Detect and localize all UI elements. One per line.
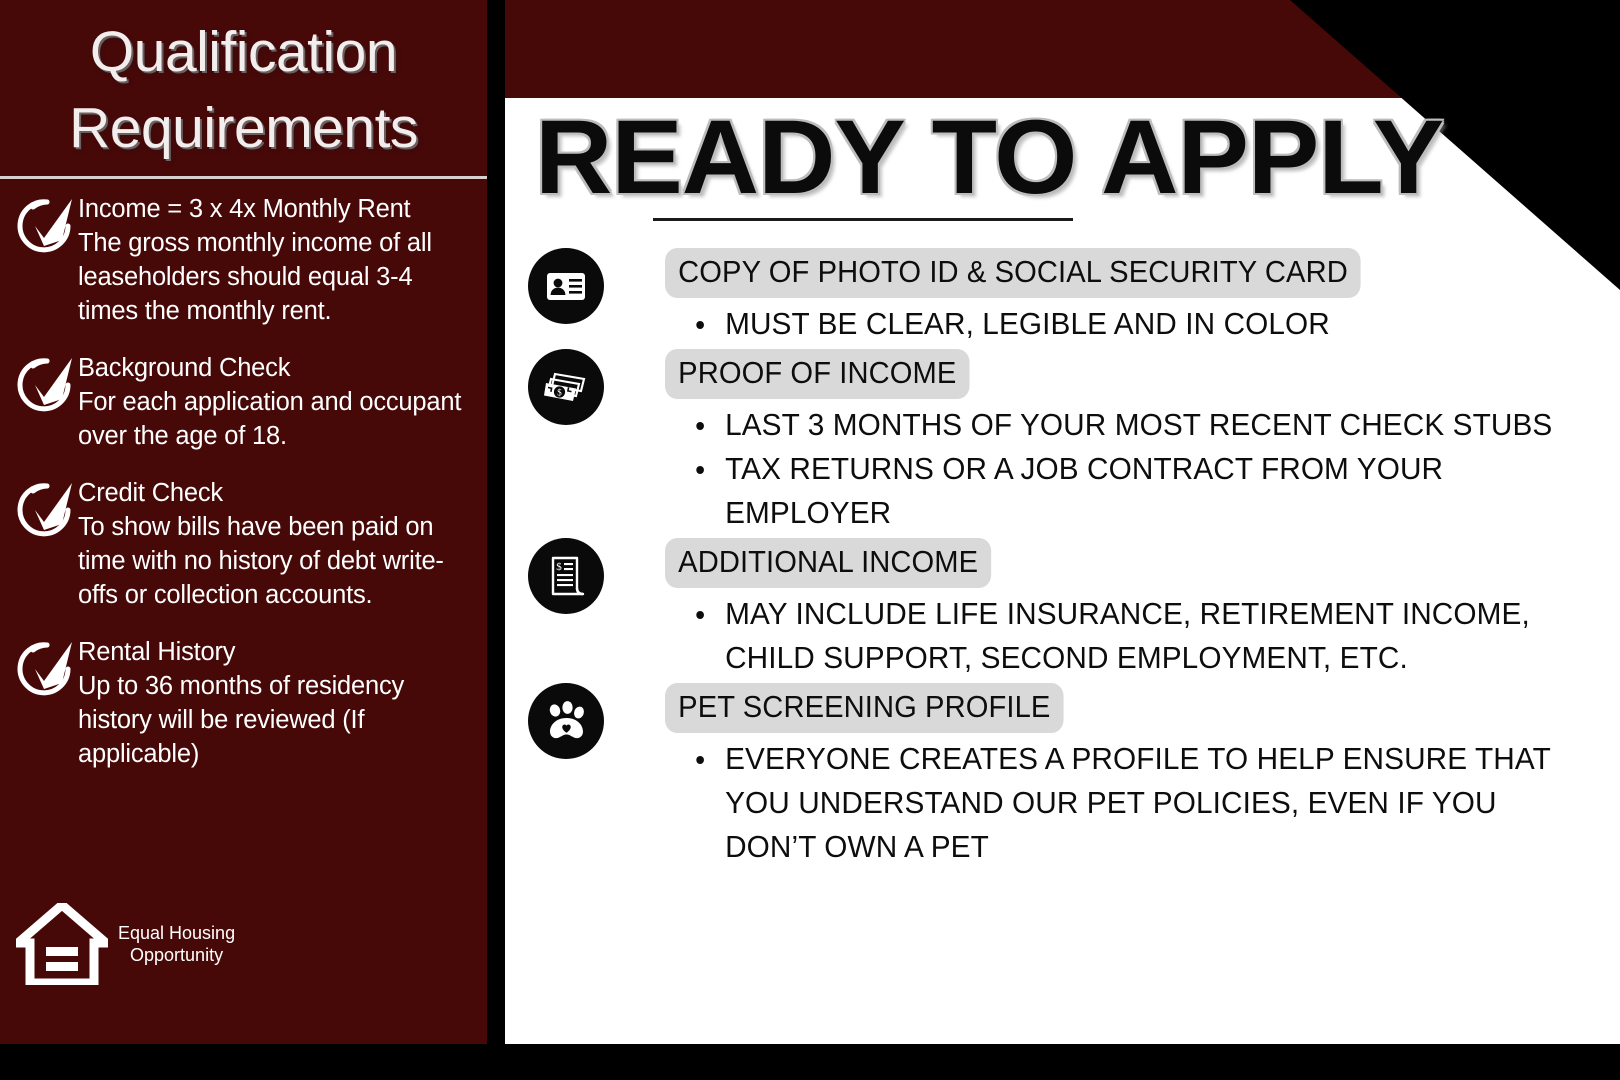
section-heading: PROOF OF INCOME: [665, 349, 970, 399]
requirements-list: Income = 3 x 4x Monthly Rent The gross m…: [0, 190, 487, 792]
svg-text:$: $: [556, 561, 562, 573]
section-proof-of-income: $ PROOF OF INCOME LAST 3 MONTHS OF YOUR …: [517, 349, 1617, 535]
check-circle-icon: [16, 355, 78, 415]
equal-housing-opportunity-label: Equal Housing Opportunity: [118, 922, 235, 966]
equal-housing-opportunity-icon: [16, 903, 108, 985]
sidebar-title: Qualification Requirements: [0, 14, 487, 166]
section-bullets: EVERYONE CREATES A PROFILE TO HELP ENSUR…: [665, 737, 1617, 869]
requirement-title: Credit Check: [78, 476, 473, 510]
requirement-item-background-check: Background Check For each application an…: [0, 349, 487, 453]
check-circle-icon: [16, 196, 78, 256]
title-underline-rule: [653, 218, 1073, 221]
receipt-invoice-icon: $: [528, 538, 604, 614]
requirement-item-income: Income = 3 x 4x Monthly Rent The gross m…: [0, 190, 487, 328]
requirement-description: Up to 36 months of residency history wil…: [78, 669, 473, 771]
requirement-description: The gross monthly income of all leasehol…: [78, 226, 473, 328]
requirement-description: For each application and occupant over t…: [78, 385, 473, 453]
check-circle-icon: [16, 480, 78, 540]
section-additional-income: $ ADDITIONAL INCOME MAY INCLUDE LIFE INS…: [517, 538, 1617, 680]
equal-housing-opportunity-block: Equal Housing Opportunity: [16, 903, 235, 985]
requirement-title: Rental History: [78, 635, 473, 669]
qualification-requirements-sidebar: Qualification Requirements Income = 3 x …: [0, 0, 487, 1044]
section-bullets: LAST 3 MONTHS OF YOUR MOST RECENT CHECK …: [665, 403, 1617, 535]
paw-print-heart-icon: [528, 683, 604, 759]
section-heading: ADDITIONAL INCOME: [665, 538, 991, 588]
requirement-item-rental-history: Rental History Up to 36 months of reside…: [0, 633, 487, 771]
vertical-divider-strip: [487, 0, 505, 1044]
requirement-title: Background Check: [78, 351, 473, 385]
requirements-sections: COPY OF PHOTO ID & SOCIAL SECURITY CARD …: [517, 248, 1617, 872]
sidebar-divider: [0, 176, 487, 179]
requirement-item-credit-check: Credit Check To show bills have been pai…: [0, 474, 487, 612]
bullet-item: LAST 3 MONTHS OF YOUR MOST RECENT CHECK …: [679, 403, 1579, 447]
svg-text:$: $: [557, 388, 562, 398]
check-circle-icon: [16, 639, 78, 699]
requirement-text: Income = 3 x 4x Monthly Rent The gross m…: [78, 190, 473, 328]
requirement-text: Credit Check To show bills have been pai…: [78, 474, 473, 612]
page-title: READY TO APPLY: [535, 104, 1620, 212]
requirement-text: Background Check For each application an…: [78, 349, 473, 453]
section-bullets: MUST BE CLEAR, LEGIBLE AND IN COLOR: [665, 302, 1617, 346]
requirement-text: Rental History Up to 36 months of reside…: [78, 633, 473, 771]
main-panel: READY TO APPLY COPY OF PHOTO ID & SOCIAL…: [505, 0, 1620, 1044]
sidebar-title-line-2: Requirements: [69, 96, 418, 160]
section-heading: PET SCREENING PROFILE: [665, 683, 1064, 733]
section-photo-id: COPY OF PHOTO ID & SOCIAL SECURITY CARD …: [517, 248, 1617, 346]
section-bullets: MAY INCLUDE LIFE INSURANCE, RETIREMENT I…: [665, 592, 1617, 680]
id-card-icon: [528, 248, 604, 324]
section-heading: COPY OF PHOTO ID & SOCIAL SECURITY CARD: [665, 248, 1361, 298]
section-pet-screening: PET SCREENING PROFILE EVERYONE CREATES A…: [517, 683, 1617, 869]
bullet-item: EVERYONE CREATES A PROFILE TO HELP ENSUR…: [679, 737, 1579, 869]
requirement-description: To show bills have been paid on time wit…: [78, 510, 473, 612]
bottom-black-bar: [0, 1044, 1620, 1080]
bullet-item: MAY INCLUDE LIFE INSURANCE, RETIREMENT I…: [679, 592, 1579, 680]
eho-line-1: Equal Housing: [118, 923, 235, 943]
bullet-item: MUST BE CLEAR, LEGIBLE AND IN COLOR: [679, 302, 1579, 346]
sidebar-title-line-1: Qualification: [90, 20, 397, 84]
cash-money-icon: $: [528, 349, 604, 425]
bullet-item: TAX RETURNS OR A JOB CONTRACT FROM YOUR …: [679, 447, 1579, 535]
poster-canvas: Qualification Requirements Income = 3 x …: [0, 0, 1620, 1080]
eho-line-2: Opportunity: [130, 945, 223, 965]
requirement-title: Income = 3 x 4x Monthly Rent: [78, 192, 473, 226]
